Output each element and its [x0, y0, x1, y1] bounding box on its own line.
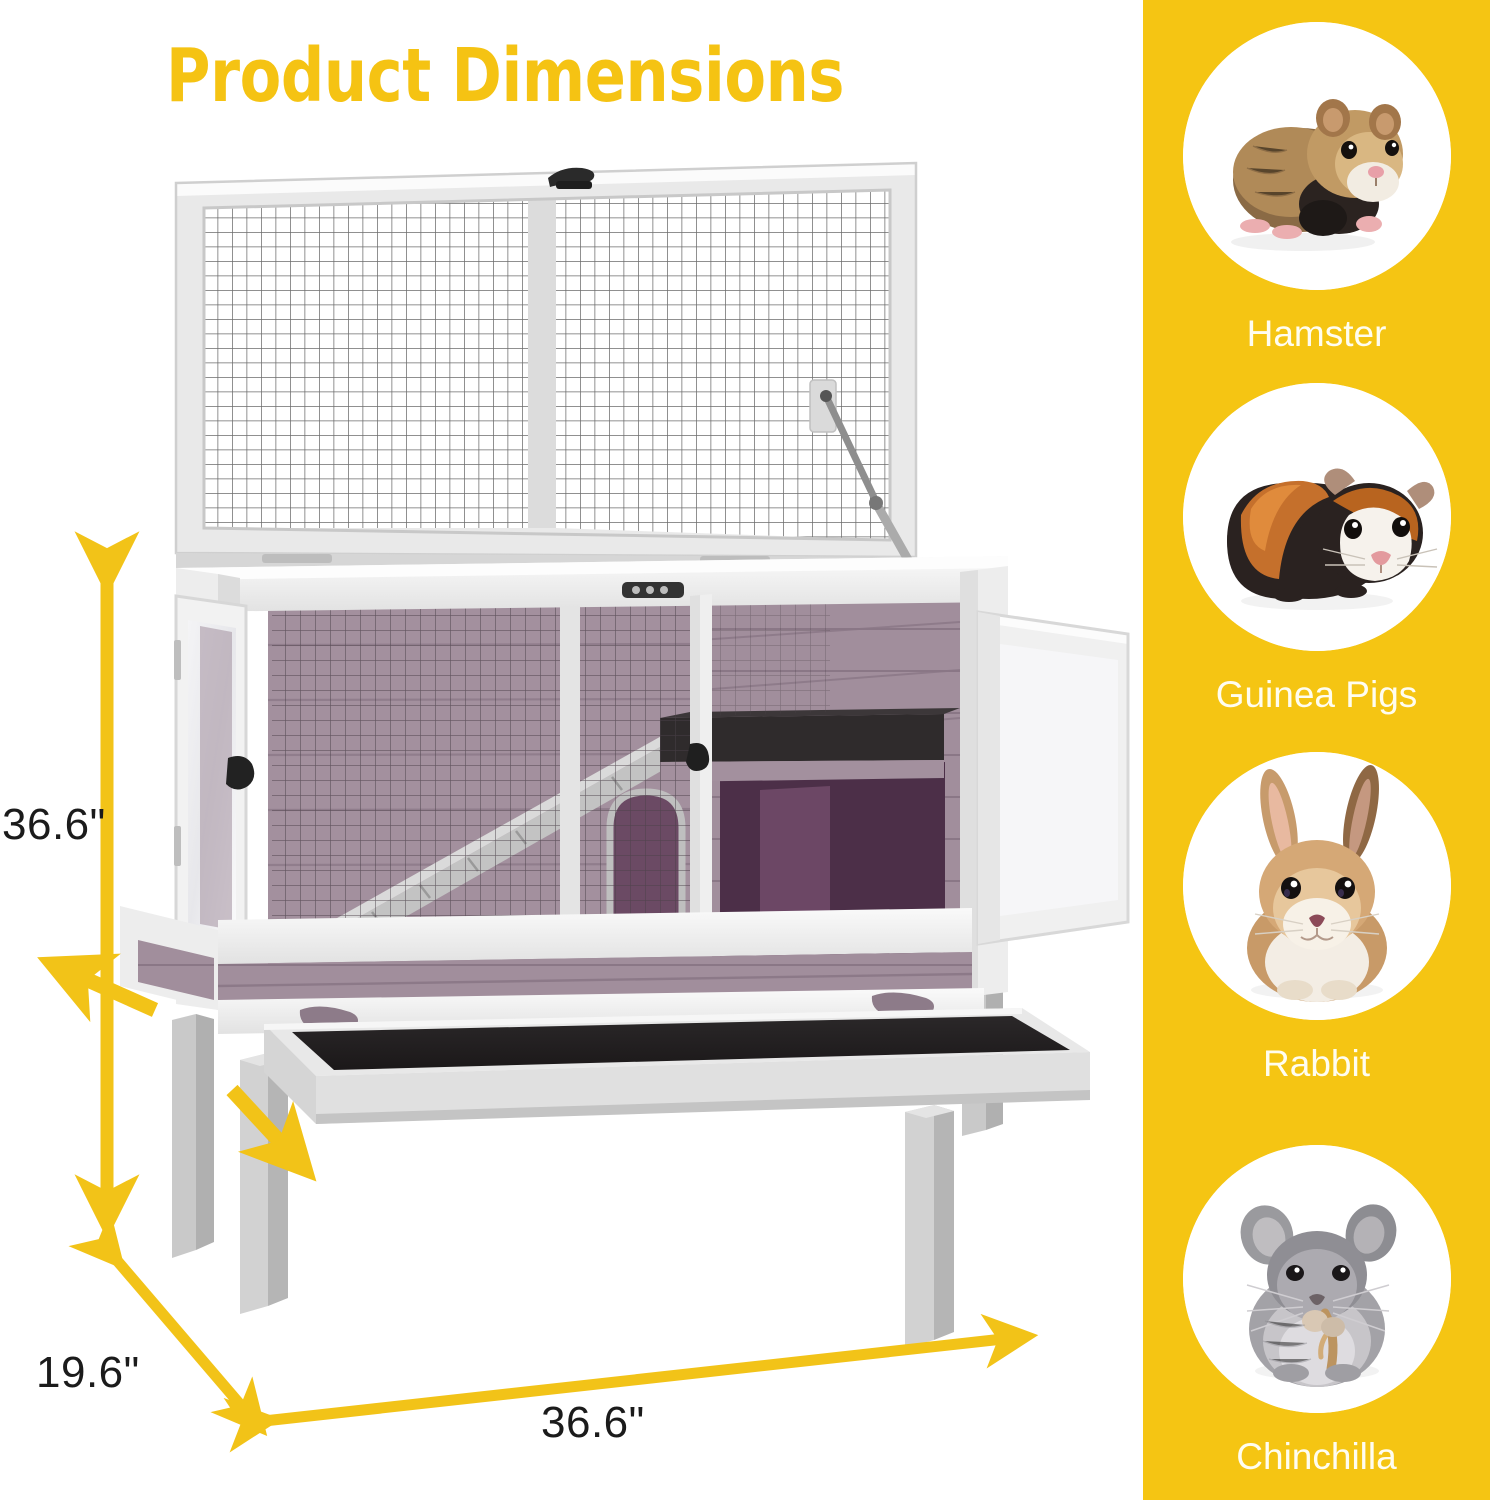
leg-front-left — [240, 1053, 288, 1314]
rabbit-photo — [1183, 752, 1451, 1020]
left-door-hinge-top — [174, 640, 181, 680]
leg-rear-left — [172, 1014, 214, 1258]
guinea-pig-photo — [1183, 383, 1451, 651]
width-dimension-label: 36.6" — [541, 1398, 645, 1448]
left-door-hinge-bottom — [174, 826, 181, 866]
left-door-latch — [226, 756, 254, 790]
hutch-body — [120, 556, 1008, 1034]
body-clasp — [622, 582, 684, 598]
product-illustration — [0, 0, 1143, 1500]
infographic-canvas: Product Dimensions — [0, 0, 1490, 1500]
pet-types-sidebar: Hamster — [1143, 0, 1490, 1500]
pet-label-guinea-pigs: Guinea Pigs — [1143, 674, 1490, 716]
lid-hinge-left — [262, 554, 332, 563]
left-acrylic-window-door — [174, 596, 254, 960]
hinged-mesh-lid — [176, 163, 916, 578]
pet-label-chinchilla: Chinchilla — [1143, 1436, 1490, 1478]
pet-label-rabbit: Rabbit — [1143, 1043, 1490, 1085]
hamster-photo — [1183, 22, 1451, 290]
pet-label-hamster: Hamster — [1143, 313, 1490, 355]
chinchilla-photo — [1183, 1145, 1451, 1413]
depth-dimension-label: 19.6" — [36, 1348, 140, 1398]
height-dimension-label: 36.6" — [2, 800, 106, 850]
leg-front-right — [905, 1105, 954, 1348]
right-acrylic-door-open — [978, 612, 1128, 944]
